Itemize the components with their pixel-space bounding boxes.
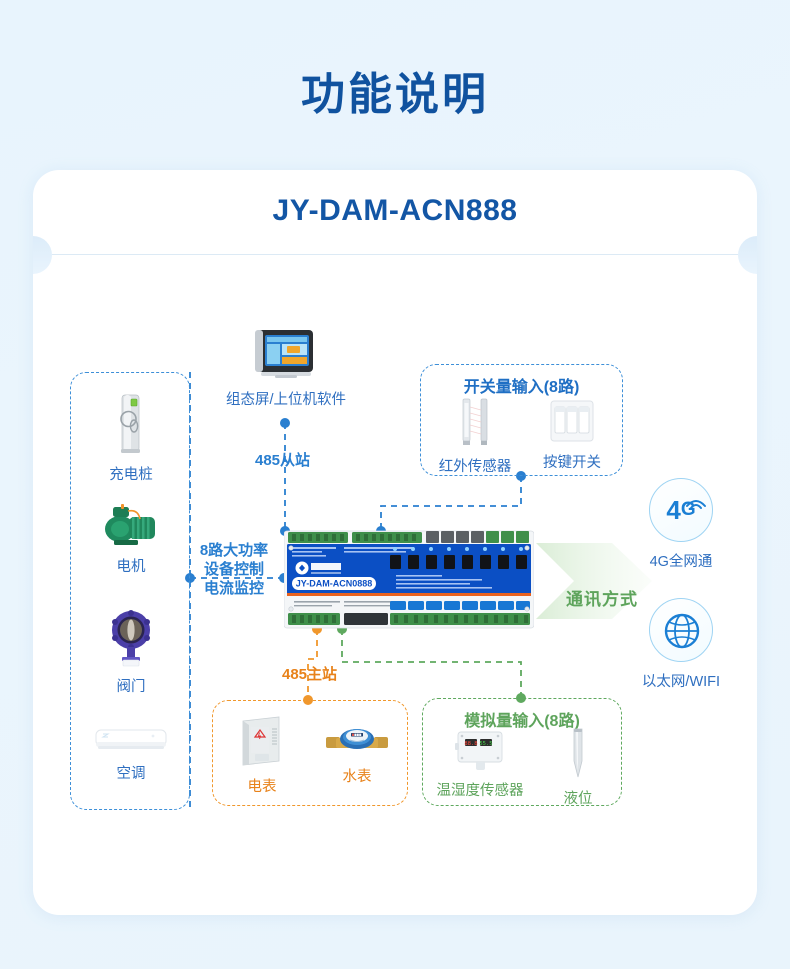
device-motor: 电机 — [71, 503, 191, 576]
comm-label: 以太网/WIFI — [628, 670, 734, 691]
card-notch-left — [33, 236, 52, 274]
power-control-line-1: 8路大功率 — [196, 542, 272, 561]
svg-text:JY-DAM-ACN0888: JY-DAM-ACN0888 — [296, 579, 373, 589]
wifi-arc-icon — [685, 495, 707, 510]
group-load-devices: 充电桩 电机 — [70, 372, 190, 810]
globe-icon — [664, 613, 700, 649]
device-label: 空调 — [71, 762, 191, 783]
power-control-line-2: 设备控制 — [196, 561, 272, 580]
liquid-level-probe-icon — [565, 727, 591, 779]
device-charging-pile: 充电桩 — [71, 393, 191, 484]
device-infrared-sensor: 红外传感器 — [427, 397, 523, 476]
card-separator — [52, 254, 738, 255]
edge-label-power-control: 8路大功率 设备控制 电流监控 — [196, 542, 272, 598]
comm-4g: 4G 4G全网通 — [628, 478, 734, 571]
power-control-line-3: 电流监控 — [196, 580, 272, 599]
temp-humidity-sensor-icon: 88.8 55.5 — [453, 729, 507, 771]
device-liquid-level: 液位 — [537, 727, 619, 808]
device-electric-meter: 电表 — [215, 713, 309, 796]
device-label: 温湿度传感器 — [423, 779, 537, 800]
motor-pump-icon — [101, 503, 161, 547]
device-air-conditioner: 空调 — [71, 728, 191, 783]
group-analog-input: 模拟量输入(8路) 88.8 55.5 温湿度传感器 液位 — [422, 698, 622, 806]
device-wall-switch: 按键开关 — [525, 399, 619, 472]
device-hmi: 组态屏/上位机软件 — [215, 328, 357, 409]
4g-signal-icon: 4G — [649, 478, 713, 542]
group-digital-input: 开关量输入(8路) 红外传感器 按键 — [420, 364, 623, 476]
4g-glyph-main: 4 — [666, 495, 680, 526]
device-label: 水表 — [309, 765, 405, 786]
device-label: 电表 — [215, 775, 309, 796]
water-meter-icon — [326, 723, 388, 757]
device-valve: 阀门 — [71, 609, 191, 696]
edge-label-485-master: 485主站 — [282, 666, 337, 685]
wall-switch-icon — [549, 399, 595, 443]
device-label: 阀门 — [71, 675, 191, 696]
hmi-screen-icon — [253, 328, 319, 380]
device-label: 充电桩 — [71, 463, 191, 484]
globe-icon-wrap — [649, 598, 713, 662]
infrared-sensor-icon — [455, 397, 495, 447]
device-water-meter: 水表 — [309, 723, 405, 786]
air-conditioner-icon — [95, 728, 167, 754]
page-title: 功能说明 — [0, 58, 790, 122]
group-heading: 开关量输入(8路) — [421, 373, 622, 397]
device-label: 液位 — [537, 787, 619, 808]
controller-board: JY-DAM-ACN0888 — [284, 529, 534, 630]
controller-board-art: JY-DAM-ACN0888 — [284, 529, 534, 630]
4g-glyph: 4G — [650, 479, 712, 541]
edge-label-485-slave: 485从站 — [255, 452, 310, 471]
svg-text:88.8: 88.8 — [464, 741, 477, 747]
device-label: 电机 — [71, 555, 191, 576]
device-temp-humidity-sensor: 88.8 55.5 温湿度传感器 — [423, 729, 537, 800]
butterfly-valve-icon — [109, 609, 153, 667]
group-rs485-devices: 电表 水表 — [212, 700, 408, 806]
card-notch-right — [738, 236, 757, 274]
device-label: 红外传感器 — [427, 455, 523, 476]
svg-text:55.5: 55.5 — [479, 741, 492, 747]
comm-label: 4G全网通 — [628, 550, 734, 571]
card-title: JY-DAM-ACN888 — [33, 194, 757, 228]
device-label: 按键开关 — [525, 451, 619, 472]
comm-ethernet-wifi: 以太网/WIFI — [628, 598, 734, 691]
electric-meter-icon — [239, 713, 285, 767]
device-label: 组态屏/上位机软件 — [215, 388, 357, 409]
charging-pile-icon — [117, 393, 145, 455]
